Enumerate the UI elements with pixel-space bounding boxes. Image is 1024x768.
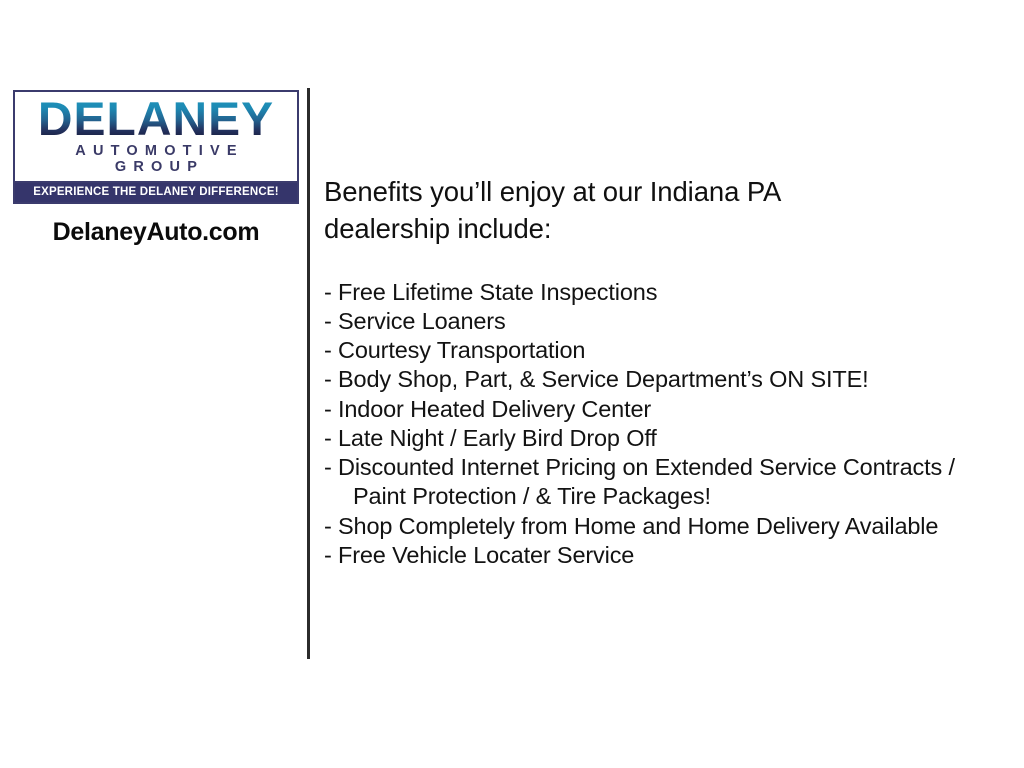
benefit-list-item: -Free Lifetime State Inspections (324, 278, 1014, 307)
benefit-dash-marker: - (324, 424, 338, 453)
benefit-dash-marker: - (324, 307, 338, 336)
benefit-dash-marker: - (324, 278, 338, 307)
benefit-dash-marker: - (324, 365, 338, 394)
logo-subline-automotive-group: AUTOMOTIVE GROUP (23, 143, 289, 175)
benefit-item-label: Free Lifetime State Inspections (338, 278, 657, 307)
benefit-list-item: -Shop Completely from Home and Home Deli… (324, 512, 1014, 541)
content-column: Benefits you’ll enjoy at our Indiana PA … (324, 174, 1014, 570)
benefit-list-item: -Discounted Internet Pricing on Extended… (324, 453, 1014, 482)
benefit-list-item: -Courtesy Transportation (324, 336, 1014, 365)
benefit-item-label: Shop Completely from Home and Home Deliv… (338, 512, 938, 541)
benefit-item-label: Service Loaners (338, 307, 506, 336)
benefit-list-item: -Service Loaners (324, 307, 1014, 336)
vertical-divider (307, 88, 310, 659)
brand-block: DELANEY AUTOMOTIVE GROUP EXPERIENCE THE … (13, 90, 299, 247)
benefit-dash-marker: - (324, 336, 338, 365)
benefit-item-continuation: Paint Protection / & Tire Packages! (324, 482, 1014, 511)
benefit-item-label: Free Vehicle Locater Service (338, 541, 634, 570)
benefit-item-label: Discounted Internet Pricing on Extended … (338, 453, 955, 482)
logo-wordmark-delaney: DELANEY (20, 96, 291, 142)
benefit-item-label: Body Shop, Part, & Service Department’s … (338, 365, 868, 394)
benefits-list: -Free Lifetime State Inspections-Service… (324, 278, 1014, 571)
benefit-dash-marker: - (324, 541, 338, 570)
benefit-list-item: -Indoor Heated Delivery Center (324, 395, 1014, 424)
benefit-dash-marker: - (324, 512, 338, 541)
benefit-dash-marker: - (324, 453, 338, 482)
slide-canvas: DELANEY AUTOMOTIVE GROUP EXPERIENCE THE … (0, 0, 1024, 768)
benefit-list-item: -Free Vehicle Locater Service (324, 541, 1014, 570)
brand-website-url: DelaneyAuto.com (13, 218, 299, 247)
benefit-list-item: -Late Night / Early Bird Drop Off (324, 424, 1014, 453)
benefit-item-label: Courtesy Transportation (338, 336, 585, 365)
delaney-logo: DELANEY AUTOMOTIVE GROUP EXPERIENCE THE … (13, 90, 299, 204)
benefit-list-item: -Body Shop, Part, & Service Department’s… (324, 365, 1014, 394)
logo-wordmark-area: DELANEY AUTOMOTIVE GROUP (15, 92, 297, 181)
benefit-dash-marker: - (324, 395, 338, 424)
benefit-item-label: Indoor Heated Delivery Center (338, 395, 651, 424)
logo-tagline-text: EXPERIENCE THE DELANEY DIFFERENCE! (15, 186, 297, 198)
content-heading: Benefits you’ll enjoy at our Indiana PA … (324, 174, 884, 248)
logo-tagline-bar: EXPERIENCE THE DELANEY DIFFERENCE! (15, 181, 297, 202)
benefit-item-label: Late Night / Early Bird Drop Off (338, 424, 657, 453)
